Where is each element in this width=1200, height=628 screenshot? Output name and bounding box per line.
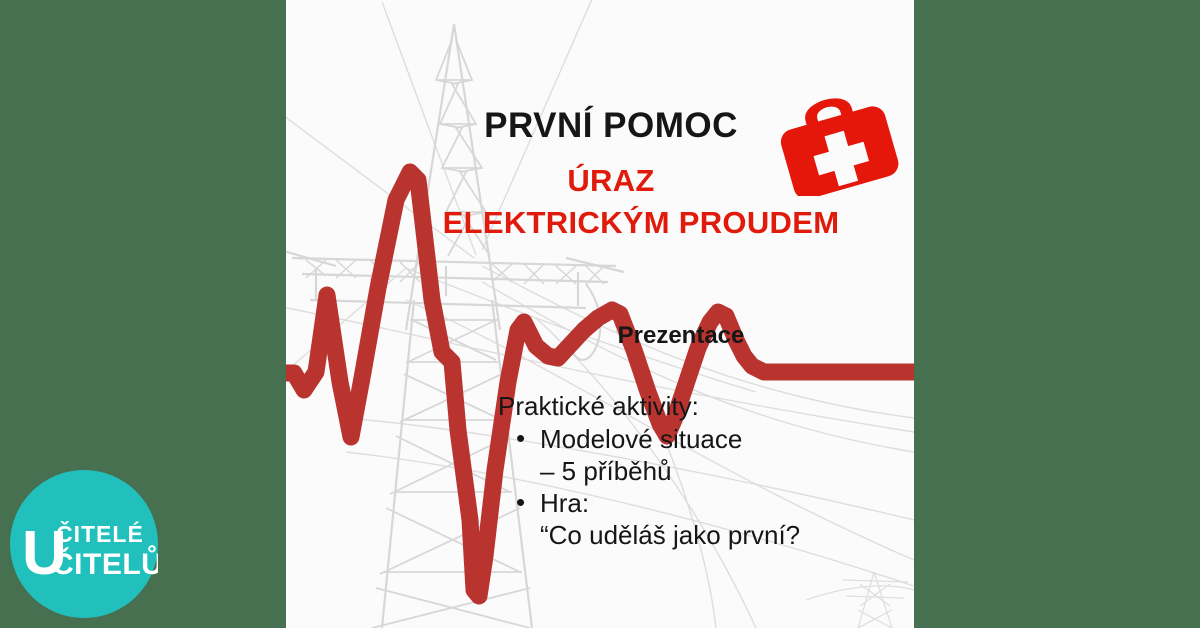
first-aid-kit-icon <box>767 84 902 196</box>
title-line-2: ELEKTRICKÝM PROUDEM <box>391 205 891 241</box>
right-green-band <box>914 0 1200 628</box>
poster-canvas: PRVNÍ POMOC ÚRAZ ELEKTRICKÝM PROUDEM Pre… <box>0 0 1200 628</box>
list-item: “Co uděláš jako první? <box>498 520 898 551</box>
logo-badge[interactable]: U ČITELÉ ČITELŮM.CZ <box>10 470 158 618</box>
ucitele-ucitelum-logo: U ČITELÉ ČITELŮM.CZ <box>10 470 158 618</box>
list-item: Modelové situace <box>498 424 898 455</box>
poster-card: PRVNÍ POMOC ÚRAZ ELEKTRICKÝM PROUDEM Pre… <box>286 0 914 628</box>
list-item: – 5 příběhů <box>498 456 898 487</box>
logo-line-1: ČITELÉ <box>56 520 144 547</box>
activities-list: Modelové situace – 5 příběhů Hra: “Co ud… <box>498 424 898 552</box>
presentation-label: Prezentace <box>516 322 846 350</box>
logo-line-2: ČITELŮM.CZ <box>52 545 158 581</box>
list-item: Hra: <box>498 488 898 519</box>
activities-label: Praktické aktivity: <box>498 391 699 422</box>
eyebrow-heading: PRVNÍ POMOC <box>446 106 776 146</box>
title-line-1: ÚRAZ <box>446 163 776 199</box>
